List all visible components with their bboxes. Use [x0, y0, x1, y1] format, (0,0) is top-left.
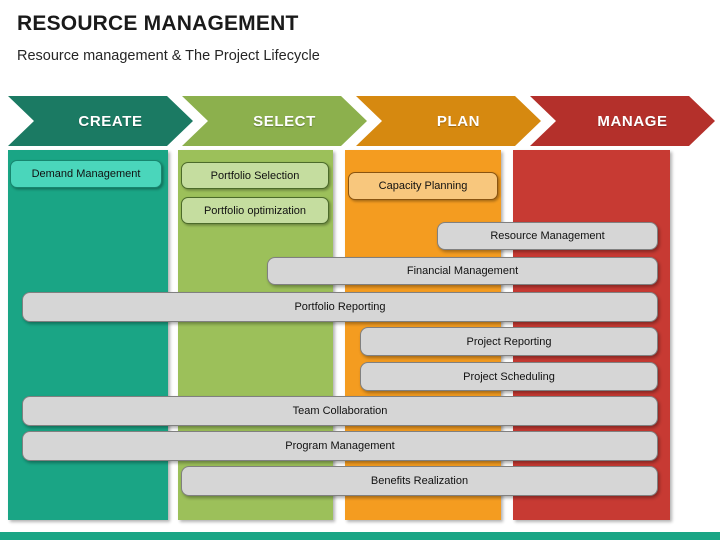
phase-chevron-create[interactable]: CREATE [8, 96, 193, 146]
phase-chevron-label: SELECT [253, 113, 316, 130]
page-title: RESOURCE MANAGEMENT [17, 12, 298, 36]
footer-rule [0, 532, 720, 540]
phase-chevron-label: CREATE [78, 113, 142, 130]
phase-item-portfolio-optimization[interactable]: Portfolio optimization [181, 197, 329, 224]
page-subtitle: Resource management & The Project Lifecy… [17, 48, 320, 64]
phase-column-create [8, 150, 168, 520]
phase-chevron-plan[interactable]: PLAN [356, 96, 541, 146]
phase-chevron-label: MANAGE [597, 113, 667, 130]
capability-bar-benefits-realization[interactable]: Benefits Realization [181, 466, 658, 496]
phase-item-portfolio-selection[interactable]: Portfolio Selection [181, 162, 329, 189]
phase-chevron-manage[interactable]: MANAGE [530, 96, 715, 146]
phase-item-demand-management[interactable]: Demand Management [10, 160, 162, 188]
capability-bar-resource-management[interactable]: Resource Management [437, 222, 658, 250]
capability-bar-portfolio-reporting[interactable]: Portfolio Reporting [22, 292, 658, 322]
capability-bar-financial-management[interactable]: Financial Management [267, 257, 658, 285]
phase-chevron-banner: CREATESELECTPLANMANAGE [0, 96, 720, 146]
capability-bar-program-management[interactable]: Program Management [22, 431, 658, 461]
capability-bar-project-reporting[interactable]: Project Reporting [360, 327, 658, 356]
phase-chevron-label: PLAN [437, 113, 480, 130]
slide-canvas: RESOURCE MANAGEMENT Resource management … [0, 0, 720, 540]
phase-chevron-select[interactable]: SELECT [182, 96, 367, 146]
capability-bar-project-scheduling[interactable]: Project Scheduling [360, 362, 658, 391]
phase-item-capacity-planning[interactable]: Capacity Planning [348, 172, 498, 200]
capability-bar-team-collaboration[interactable]: Team Collaboration [22, 396, 658, 426]
